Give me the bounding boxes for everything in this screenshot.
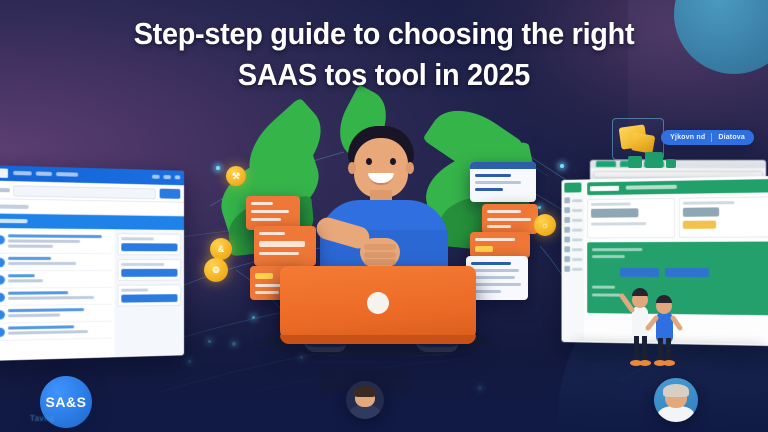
list-item[interactable] [0, 305, 112, 324]
floating-card [246, 196, 300, 230]
floating-card [482, 204, 538, 234]
sidebar-item[interactable] [564, 246, 582, 252]
stat-card[interactable] [587, 198, 675, 239]
navbar-icon[interactable] [163, 175, 171, 179]
ear-shape [406, 162, 414, 174]
list-item[interactable] [0, 231, 112, 254]
side-card[interactable] [117, 233, 181, 255]
stat-card[interactable] [679, 196, 768, 237]
list-item-text [8, 257, 110, 267]
coin-icon: ☼ [534, 214, 556, 236]
ear-shape [348, 162, 356, 174]
subheader-label [0, 204, 29, 209]
list-item-text [8, 291, 110, 302]
card-header [470, 162, 536, 169]
left-dashboard-body [0, 228, 184, 361]
coin-icon: & [210, 238, 232, 260]
left-dashboard-panel[interactable] [0, 165, 184, 361]
network-node [216, 166, 220, 170]
browser-tab[interactable] [596, 161, 616, 167]
search-input[interactable] [13, 185, 156, 199]
green-boxes-group [628, 152, 676, 168]
saas-badge-label: SA&S [46, 394, 87, 410]
right-dashboard-sidebar [562, 180, 585, 343]
head-shape [354, 138, 408, 198]
avatar-center[interactable] [346, 381, 384, 419]
list-item-icon [0, 258, 5, 267]
page-title: Step-step guide to choosing the right SA… [27, 14, 741, 96]
bottom-left-watermark: Taviig [30, 414, 54, 423]
avatar-right[interactable] [654, 378, 698, 422]
laptop [280, 266, 476, 344]
list-item[interactable] [0, 271, 112, 289]
search-submit-button[interactable] [160, 189, 181, 199]
floating-card [470, 232, 530, 258]
sidebar-item[interactable] [564, 227, 582, 233]
hand-shape [360, 238, 400, 268]
sidebar-item[interactable] [564, 217, 582, 223]
search-label [0, 188, 10, 192]
side-card[interactable] [117, 284, 181, 306]
eye-shape [366, 158, 372, 165]
left-dashboard-logo [0, 168, 8, 178]
floating-card [470, 162, 536, 202]
top-right-pill-badge[interactable]: Yjkovn nd Diatova [661, 130, 754, 145]
left-dashboard-sidebar [115, 229, 185, 357]
floating-card [254, 226, 316, 266]
hero-illustration: & ⚒ ☼ [222, 104, 542, 372]
side-card[interactable] [117, 259, 181, 281]
sidebar-item[interactable] [564, 266, 582, 272]
right-dashboard-header [587, 179, 768, 195]
list-item-icon [0, 293, 5, 302]
list-item-icon [0, 328, 5, 337]
list-item-text [8, 325, 110, 337]
navbar-icon[interactable] [152, 175, 160, 179]
sidebar-item[interactable] [564, 256, 582, 262]
left-dashboard-section-header [0, 214, 184, 230]
list-item-icon [0, 235, 5, 244]
laptop-logo [367, 292, 389, 314]
list-item[interactable] [0, 322, 112, 342]
browser-tab-bar [590, 160, 766, 168]
sidebar-item[interactable] [564, 197, 582, 203]
right-dashboard-logo [564, 183, 581, 193]
sidebar-item[interactable] [564, 236, 582, 242]
title-line-1: Step-step guide to choosing the right [134, 16, 635, 51]
section-header-label [0, 219, 28, 223]
pill-right-label: Diatova [718, 134, 745, 141]
list-item-icon [0, 310, 5, 319]
stat-card-row [587, 196, 768, 238]
coin-icon: ⚙ [204, 258, 228, 282]
pill-left-label: Yjkovn nd [670, 134, 705, 141]
pill-divider [711, 133, 712, 142]
list-item-icon [0, 275, 5, 284]
list-item-text [8, 274, 110, 285]
coin-icon: ⚒ [226, 166, 246, 186]
sidebar-item[interactable] [564, 207, 582, 213]
list-item[interactable] [0, 254, 112, 272]
navbar-item[interactable] [56, 172, 78, 177]
network-node [560, 164, 564, 168]
hero-banner: Yjkovn nd Diatova [0, 0, 768, 432]
title-line-2: SAAS tos tool in 2025 [51, 55, 717, 96]
navbar-item[interactable] [13, 171, 32, 176]
list-item[interactable] [0, 288, 112, 306]
navbar-avatar[interactable] [175, 175, 181, 179]
dashboard-people-illustration [608, 276, 698, 366]
list-item-text [8, 234, 110, 250]
eye-shape [390, 158, 396, 165]
list-item-text [8, 308, 110, 320]
navbar-item[interactable] [36, 172, 52, 176]
laptop-lip [280, 335, 476, 344]
left-dashboard-list [0, 228, 115, 361]
